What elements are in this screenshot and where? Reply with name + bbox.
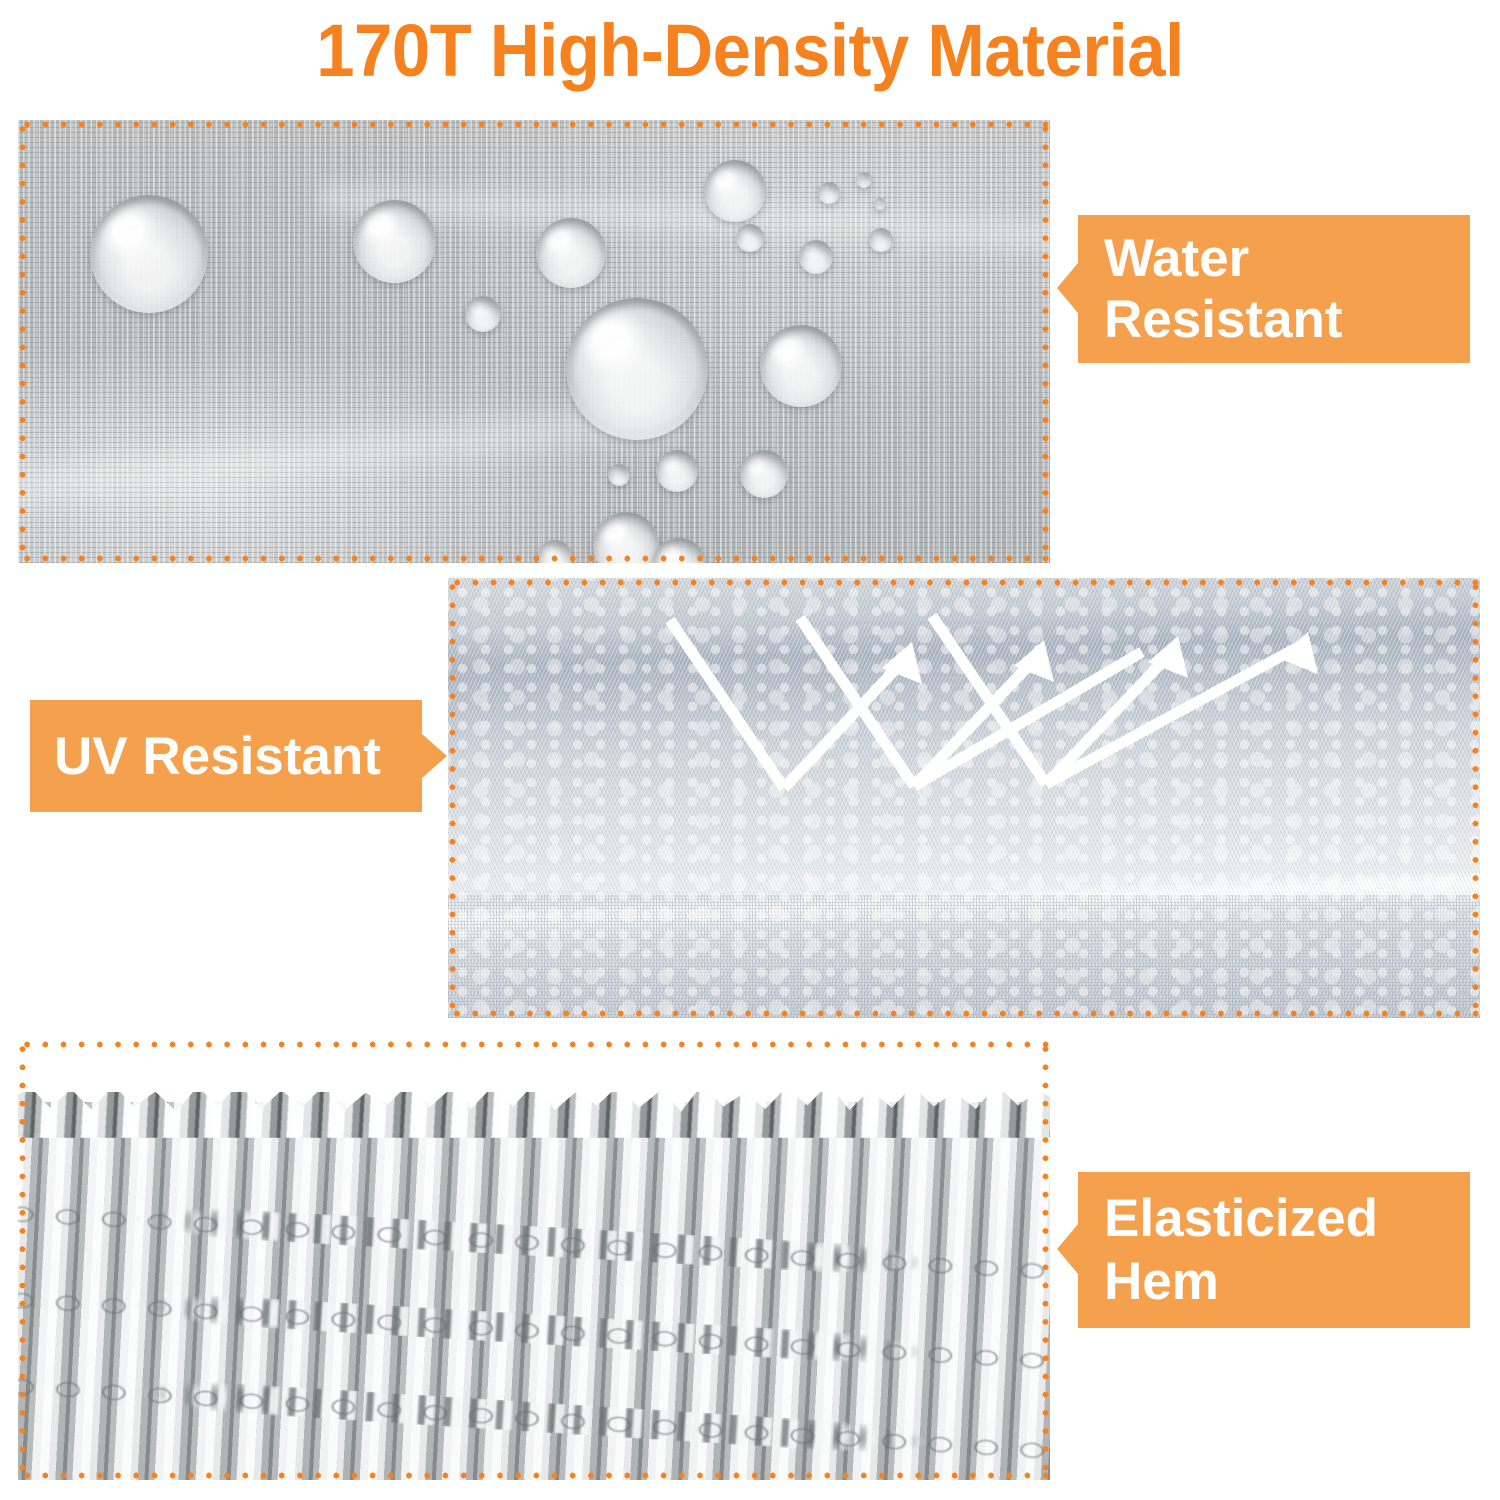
water-droplet bbox=[608, 464, 630, 486]
fabric-sparkle-texture bbox=[448, 578, 1480, 1018]
uv-reflective-fabric-photo bbox=[448, 578, 1480, 1018]
water-droplet bbox=[736, 224, 764, 252]
water-droplets-photo bbox=[18, 120, 1050, 563]
water-droplet bbox=[799, 240, 833, 274]
water-droplet bbox=[760, 325, 842, 407]
callout-arrow-right-icon bbox=[422, 734, 447, 778]
water-droplet bbox=[740, 450, 788, 498]
water-droplet bbox=[90, 195, 208, 313]
badge-uv-resistant: UV Resistant bbox=[30, 700, 422, 812]
water-droplet bbox=[465, 296, 501, 332]
water-droplet bbox=[656, 450, 698, 492]
water-droplet bbox=[869, 228, 893, 252]
badge-water-resistant-label: Water Resistant bbox=[1104, 228, 1470, 350]
water-droplet bbox=[566, 298, 708, 440]
water-droplet bbox=[536, 218, 606, 288]
water-droplet bbox=[818, 182, 840, 204]
elasticized-hem-photo bbox=[18, 1040, 1050, 1480]
water-droplet bbox=[353, 200, 436, 283]
badge-elasticized-hem-label: Elasticized Hem bbox=[1104, 1187, 1470, 1313]
callout-arrow-left-icon bbox=[1057, 1224, 1078, 1274]
callout-arrow-left-icon bbox=[1057, 263, 1078, 313]
badge-uv-resistant-label: UV Resistant bbox=[54, 726, 422, 787]
water-droplet bbox=[874, 198, 886, 210]
page-title: 170T High-Density Material bbox=[53, 8, 1448, 94]
badge-water-resistant: Water Resistant bbox=[1078, 215, 1470, 363]
photo-background-white bbox=[18, 1040, 1050, 1092]
badge-elasticized-hem: Elasticized Hem bbox=[1078, 1172, 1470, 1328]
water-droplet bbox=[856, 172, 872, 188]
water-droplet bbox=[704, 160, 766, 222]
